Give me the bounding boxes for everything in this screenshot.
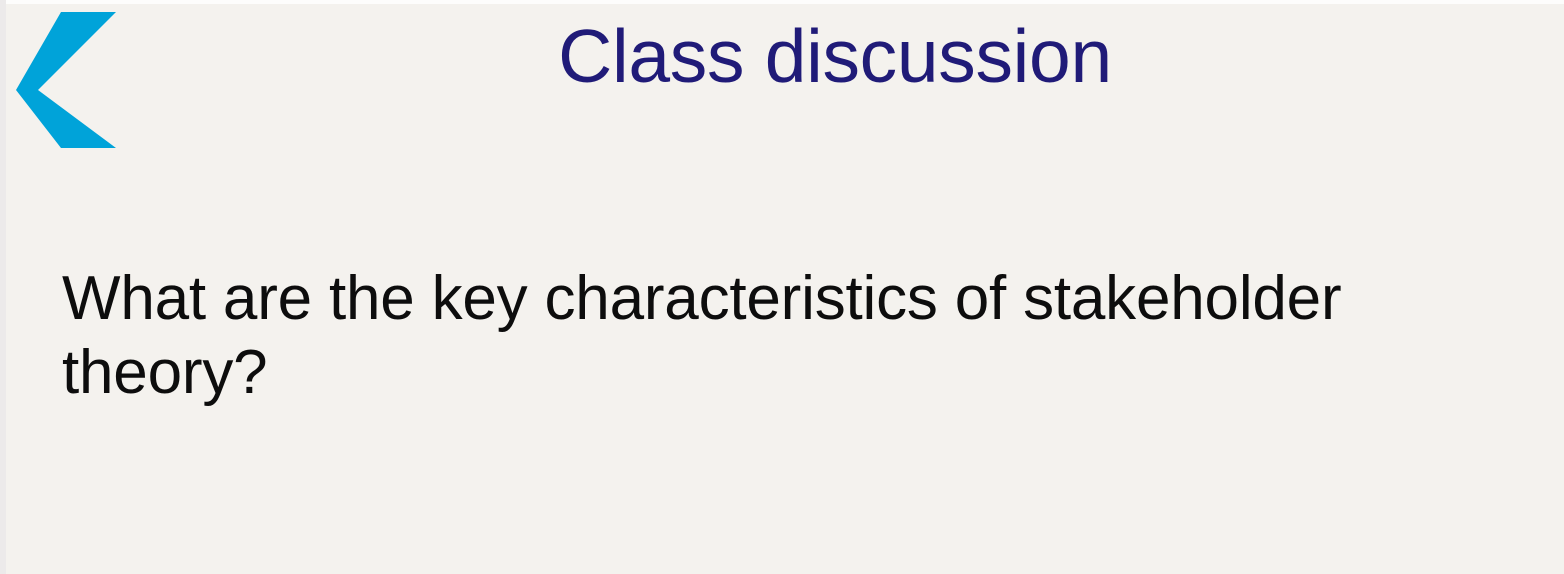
left-edge-strip xyxy=(0,0,6,574)
top-edge-strip xyxy=(0,0,1564,4)
slide-body-text: What are the key characteristics of stak… xyxy=(62,262,1362,411)
chevron-left-icon xyxy=(14,12,116,148)
slide-canvas: Class discussion What are the key charac… xyxy=(0,0,1564,574)
page-title: Class discussion xyxy=(200,14,1470,98)
